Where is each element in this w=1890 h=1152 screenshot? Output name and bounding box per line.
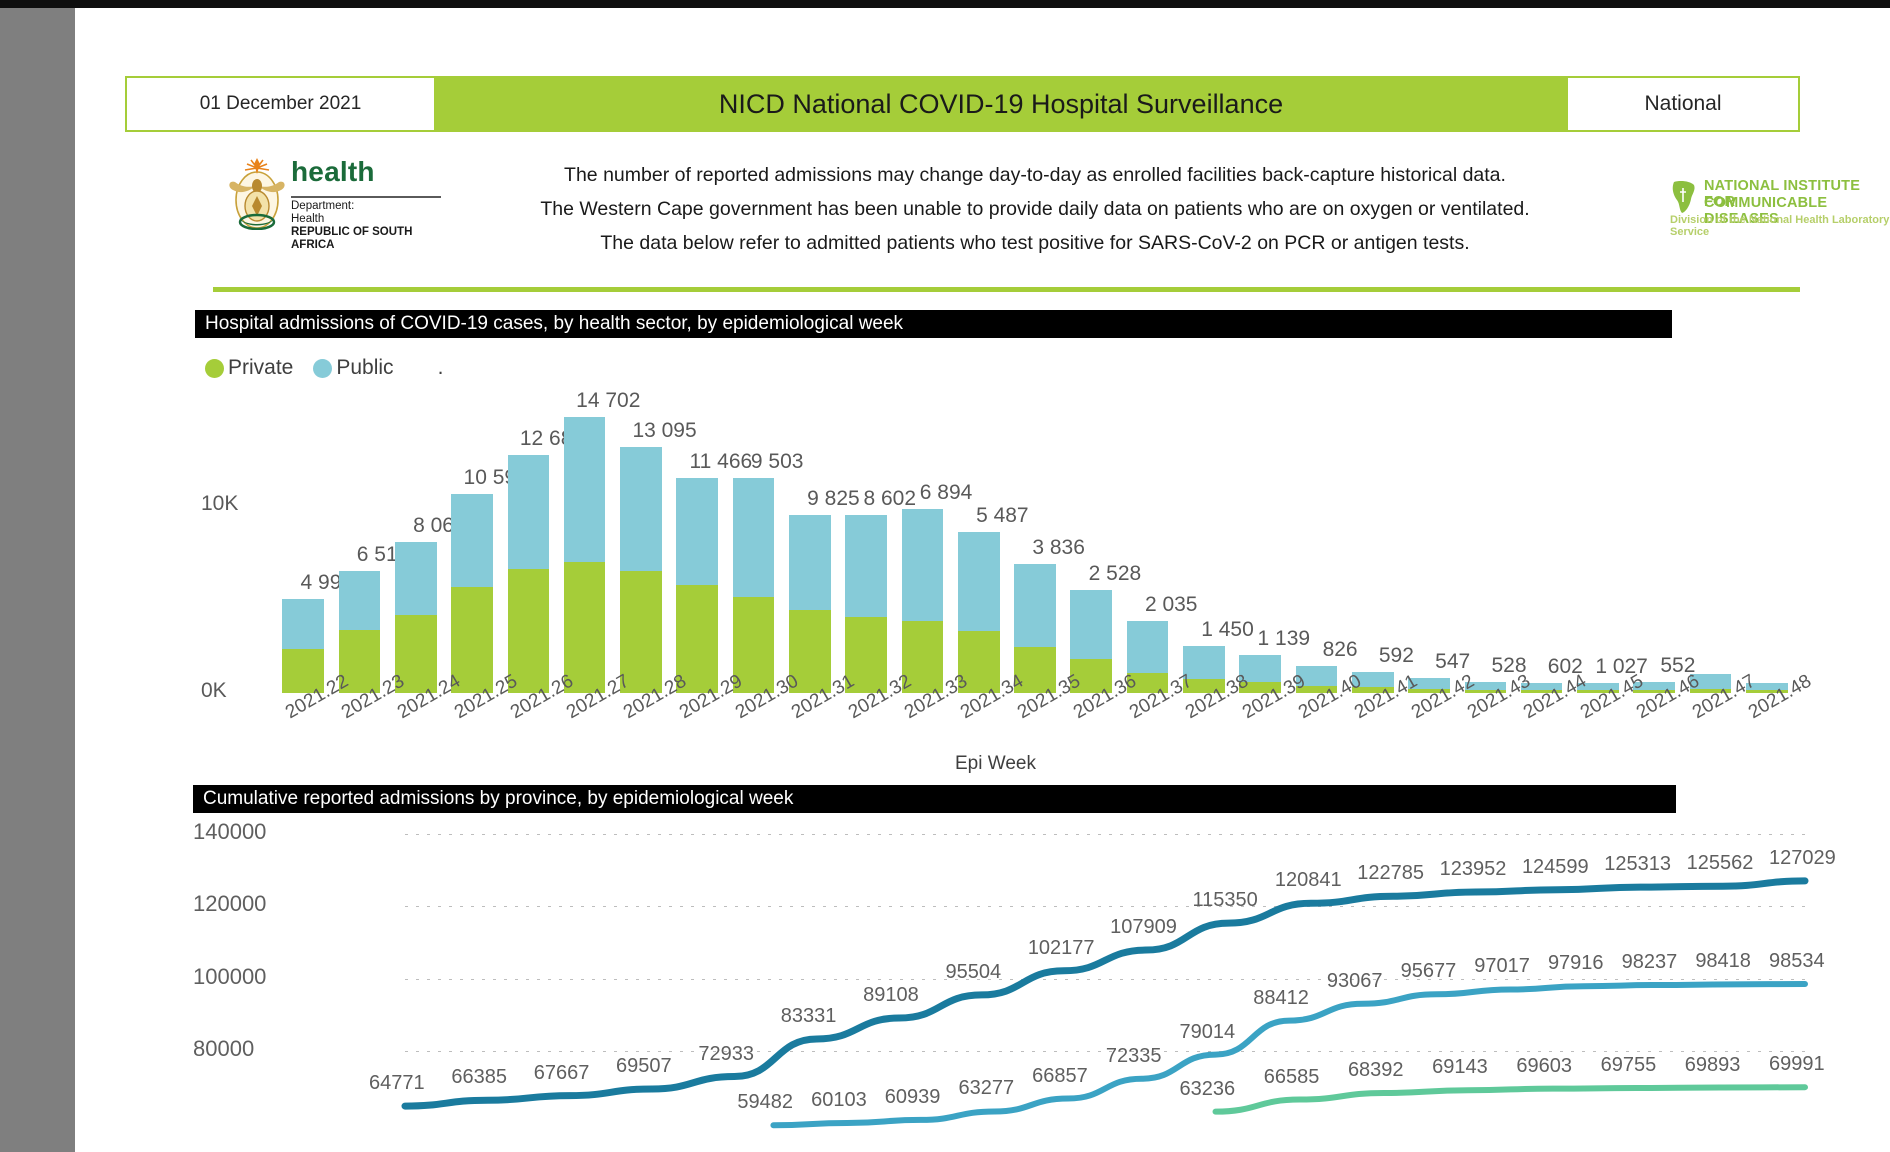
report-header: 01 December 2021 NICD National COVID-19 … — [125, 76, 1800, 132]
sa-logo-subtext: Department: Health REPUBLIC OF SOUTH AFR… — [291, 200, 457, 252]
chart2-point-label: 93067 — [1327, 970, 1383, 993]
chart2-point-label: 97017 — [1474, 955, 1530, 978]
legend-label-private: Private — [228, 356, 293, 380]
chart2-point-label: 69507 — [616, 1055, 672, 1078]
bar-column[interactable] — [395, 542, 437, 693]
chart2-point-label: 79014 — [1180, 1021, 1236, 1044]
bar-column[interactable] — [733, 478, 775, 693]
sa-coat-of-arms-icon — [227, 156, 287, 230]
bar-total-label: 3 836 — [1016, 536, 1100, 560]
note-line-3: The data below refer to admitted patient… — [475, 226, 1595, 260]
desktop-left-gutter — [0, 0, 75, 1152]
bar-total-label: 9 503 — [735, 450, 819, 474]
chart-hospital-admissions-by-sector: 0K10K4 9926 5168 06210 59312 68314 70213… — [195, 393, 1875, 783]
section-banner-admissions: Hospital admissions of COVID-19 cases, b… — [195, 310, 1672, 338]
bar-column[interactable] — [620, 447, 662, 693]
chart2-point-label: 123952 — [1440, 858, 1507, 881]
bar-total-label: 5 487 — [960, 504, 1044, 528]
sa-health-wordmark: health — [291, 156, 375, 188]
bar-column[interactable] — [508, 455, 550, 693]
chart2-point-label: 66385 — [451, 1066, 507, 1089]
chart2-point-label: 88412 — [1253, 987, 1309, 1010]
chart2-point-label: 95677 — [1401, 960, 1457, 983]
nicd-line3: Division of the National Health Laborato… — [1670, 214, 1890, 238]
chart2-point-label: 64771 — [369, 1072, 425, 1095]
chart2-point-label: 69991 — [1769, 1053, 1825, 1076]
bar-segment-private — [620, 571, 662, 693]
note-line-1: The number of reported admissions may ch… — [475, 158, 1595, 192]
chart2-point-label: 107909 — [1110, 916, 1177, 939]
chart1-x-axis-title: Epi Week — [955, 753, 1036, 775]
legend-swatch-private-icon — [205, 359, 224, 378]
bar-column[interactable] — [1014, 564, 1056, 693]
chart2-point-label: 69603 — [1516, 1055, 1572, 1078]
window-top-bar — [0, 0, 1890, 8]
bar-segment-public — [1014, 564, 1056, 647]
bar-segment-public — [902, 509, 944, 621]
bar-segment-private — [564, 562, 606, 693]
chart2-point-label: 66585 — [1264, 1066, 1320, 1089]
bar-segment-public — [620, 447, 662, 570]
chart2-point-label: 120841 — [1275, 869, 1342, 892]
nicd-logo: NATIONAL INSTITUTE FOR COMMUNICABLE DISE… — [1670, 178, 1890, 236]
report-date: 01 December 2021 — [125, 76, 436, 132]
bar-segment-public — [451, 494, 493, 586]
bar-total-label: 14 702 — [566, 389, 650, 413]
sa-logo-line3: REPUBLIC OF SOUTH AFRICA — [291, 226, 412, 251]
bar-segment-public — [1070, 590, 1112, 659]
chart2-point-label: 69893 — [1685, 1054, 1741, 1077]
chart2-point-label: 63236 — [1180, 1078, 1236, 1101]
chart2-series-line — [1216, 1087, 1805, 1111]
sa-logo-divider — [291, 196, 441, 198]
chart2-point-label: 69755 — [1601, 1054, 1657, 1077]
chart2-point-label: 67667 — [534, 1062, 590, 1085]
bar-segment-public — [508, 455, 550, 569]
chart2-point-label: 124599 — [1522, 856, 1589, 879]
bar-segment-public — [845, 515, 887, 617]
bar-column[interactable] — [676, 478, 718, 693]
bar-total-label: 2 035 — [1129, 593, 1213, 617]
header-divider — [213, 287, 1800, 292]
chart2-point-label: 98418 — [1695, 950, 1751, 973]
bar-total-label: 13 095 — [622, 419, 706, 443]
bar-segment-public — [395, 542, 437, 615]
bar-column[interactable] — [789, 515, 831, 693]
chart-cumulative-admissions-by-province: 8000010000012000014000064771663856766769… — [193, 816, 1890, 1152]
bar-segment-public — [676, 478, 718, 585]
chart2-point-label: 125562 — [1687, 852, 1754, 875]
bar-segment-private — [508, 569, 550, 693]
chart2-point-label: 102177 — [1028, 937, 1095, 960]
bar-segment-public — [789, 515, 831, 610]
chart2-point-label: 83331 — [781, 1005, 837, 1028]
legend-item-private[interactable]: Private — [205, 356, 293, 380]
chart2-series-line — [405, 881, 1805, 1106]
chart1-legend: Private Public . — [205, 356, 443, 380]
chart2-point-label: 97916 — [1548, 952, 1604, 975]
report-page: 01 December 2021 NICD National COVID-19 … — [75, 8, 1890, 1152]
chart2-point-label: 63277 — [958, 1077, 1014, 1100]
bar-total-label: 6 894 — [904, 481, 988, 505]
sa-logo-line1: Department: — [291, 200, 457, 213]
legend-label-public: Public — [336, 356, 393, 380]
section-banner-cumulative: Cumulative reported admissions by provin… — [193, 785, 1676, 813]
sa-logo-line2: Health — [291, 213, 457, 226]
chart2-point-label: 98237 — [1622, 951, 1678, 974]
bar-segment-public — [958, 532, 1000, 631]
header-note: The number of reported admissions may ch… — [475, 158, 1595, 260]
bar-segment-public — [339, 571, 381, 631]
bar-segment-public — [282, 599, 324, 649]
africa-map-icon — [1670, 180, 1698, 214]
chart2-point-label: 115350 — [1193, 889, 1258, 912]
chart2-point-label: 60103 — [811, 1089, 867, 1112]
bar-column[interactable] — [845, 515, 887, 693]
chart2-point-label: 60939 — [885, 1086, 941, 1109]
bar-column[interactable] — [564, 417, 606, 693]
chart2-point-label: 125313 — [1604, 853, 1671, 876]
bar-column[interactable] — [451, 494, 493, 693]
bar-column[interactable] — [902, 509, 944, 693]
chart2-point-label: 98534 — [1769, 950, 1825, 973]
bar-column[interactable] — [958, 532, 1000, 693]
legend-swatch-public-icon — [313, 359, 332, 378]
chart2-point-label: 68392 — [1348, 1059, 1404, 1082]
bar-segment-public — [564, 417, 606, 561]
chart2-point-label: 72335 — [1106, 1045, 1162, 1068]
bar-column[interactable] — [339, 571, 381, 693]
page-title: NICD National COVID-19 Hospital Surveill… — [436, 76, 1566, 132]
chart2-point-label: 95504 — [945, 961, 1001, 984]
chart2-point-label: 72933 — [698, 1043, 754, 1066]
chart2-point-label: 66857 — [1032, 1065, 1088, 1088]
chart2-point-label: 122785 — [1357, 862, 1424, 885]
legend-trailing-dot: . — [438, 356, 444, 380]
legend-item-public[interactable]: Public — [313, 356, 393, 380]
chart2-point-label: 127029 — [1769, 847, 1836, 870]
note-line-2: The Western Cape government has been una… — [475, 192, 1595, 226]
bar-segment-public — [1183, 646, 1225, 680]
bar-column[interactable] — [282, 599, 324, 693]
chart1-plot-area: 0K10K4 9926 5168 06210 59312 68314 70213… — [275, 393, 1795, 693]
chart2-point-label: 69143 — [1432, 1056, 1488, 1079]
sa-health-logo: health Department: Health REPUBLIC OF SO… — [227, 156, 457, 234]
chart2-point-label: 59482 — [737, 1091, 793, 1114]
bar-total-label: 2 528 — [1073, 562, 1157, 586]
chart2-point-label: 89108 — [863, 984, 919, 1007]
bar-segment-public — [733, 478, 775, 597]
scope-badge: National — [1566, 76, 1800, 132]
bar-segment-public — [1127, 621, 1169, 672]
